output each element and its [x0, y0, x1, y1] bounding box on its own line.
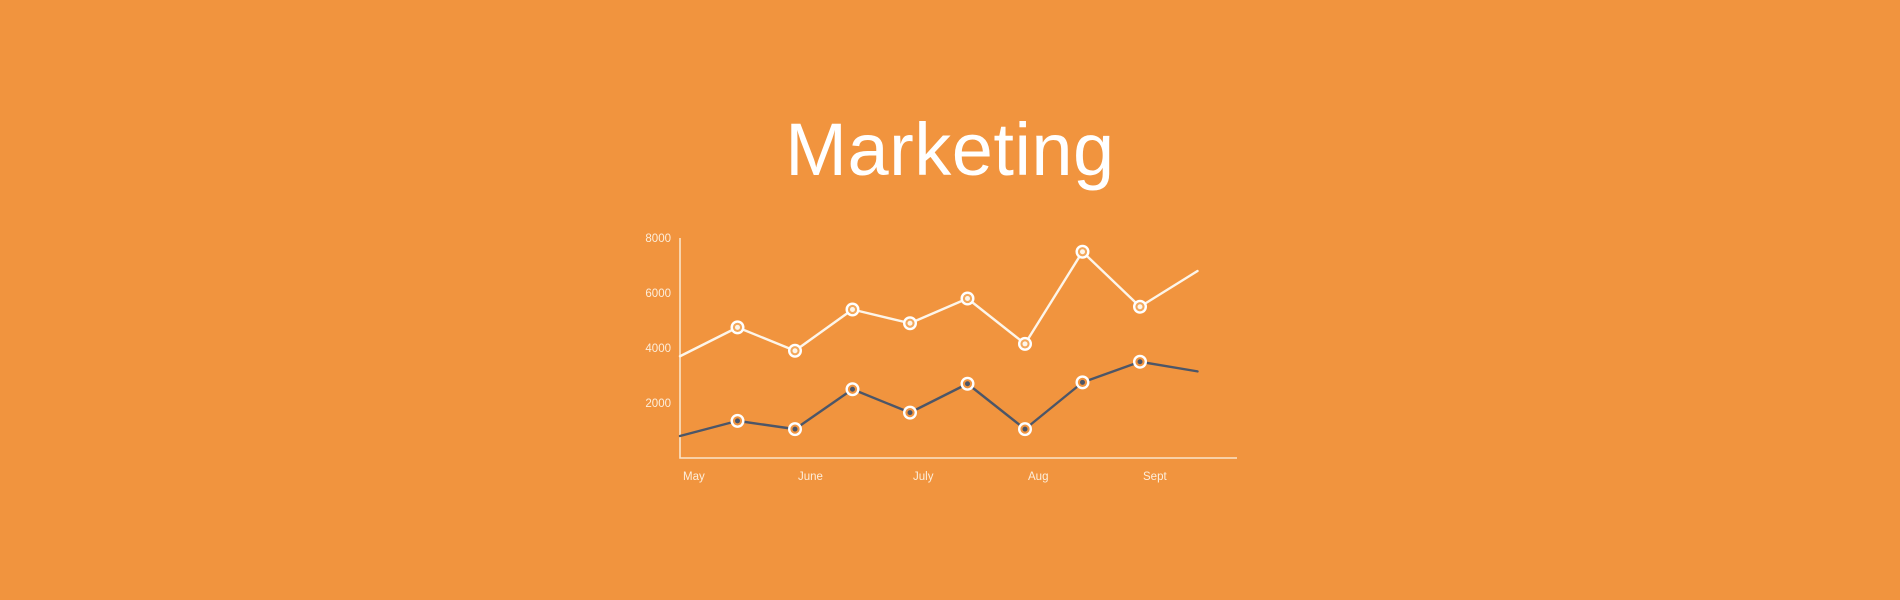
data-point-marker[interactable] [731, 320, 745, 334]
marker-center-dot [793, 348, 798, 353]
x-axis-tick-label: July [913, 471, 934, 483]
data-point-marker[interactable] [788, 344, 802, 358]
data-point-marker[interactable] [961, 377, 975, 391]
data-point-marker[interactable] [846, 382, 860, 396]
x-axis-tick-label: May [683, 471, 705, 483]
data-point-marker[interactable] [1133, 355, 1147, 369]
data-point-marker[interactable] [1018, 422, 1032, 436]
data-point-marker[interactable] [1076, 375, 1090, 389]
series-line-light-series [680, 252, 1198, 357]
marker-center-dot [793, 427, 798, 432]
x-axis-tick-labels: MayJuneJulyAugSept [683, 471, 1167, 483]
data-point-marker[interactable] [961, 292, 975, 306]
marker-center-dot [850, 387, 855, 392]
marker-center-dot [1080, 380, 1085, 385]
chart-canvas: 8000600040002000 MayJuneJulyAugSept [640, 228, 1260, 488]
data-point-marker[interactable] [788, 422, 802, 436]
marker-center-dot [1138, 304, 1143, 309]
series-line-dark-series [680, 362, 1198, 436]
marker-center-dot [908, 321, 913, 326]
x-axis-tick-label: Aug [1028, 471, 1048, 483]
data-point-marker[interactable] [846, 303, 860, 317]
data-point-marker[interactable] [1133, 300, 1147, 314]
x-axis-tick-label: June [798, 471, 823, 483]
series-lines-group [680, 252, 1198, 436]
data-point-marker[interactable] [1018, 337, 1032, 351]
marker-center-dot [965, 296, 970, 301]
y-axis-tick-label: 2000 [645, 398, 671, 410]
marker-center-dot [1023, 341, 1028, 346]
line-chart: 8000600040002000 MayJuneJulyAugSept [640, 228, 1260, 488]
marker-center-dot [850, 307, 855, 312]
data-point-marker[interactable] [903, 316, 917, 330]
page-root: Marketing 8000600040002000 MayJuneJulyAu… [0, 0, 1900, 600]
marker-center-dot [1023, 427, 1028, 432]
data-point-marker[interactable] [903, 406, 917, 420]
y-axis-tick-labels: 8000600040002000 [645, 233, 671, 410]
y-axis-tick-label: 8000 [645, 233, 671, 245]
marker-center-dot [735, 418, 740, 423]
y-axis-tick-label: 4000 [645, 343, 671, 355]
series-markers-group [731, 245, 1148, 436]
data-point-marker[interactable] [731, 414, 745, 428]
y-axis-tick-label: 6000 [645, 288, 671, 300]
marker-center-dot [735, 325, 740, 330]
marker-center-dot [908, 410, 913, 415]
x-axis-tick-label: Sept [1143, 471, 1167, 483]
marker-center-dot [965, 381, 970, 386]
page-title: Marketing [0, 108, 1900, 192]
data-point-marker[interactable] [1076, 245, 1090, 259]
marker-center-dot [1080, 249, 1085, 254]
marker-center-dot [1138, 359, 1143, 364]
